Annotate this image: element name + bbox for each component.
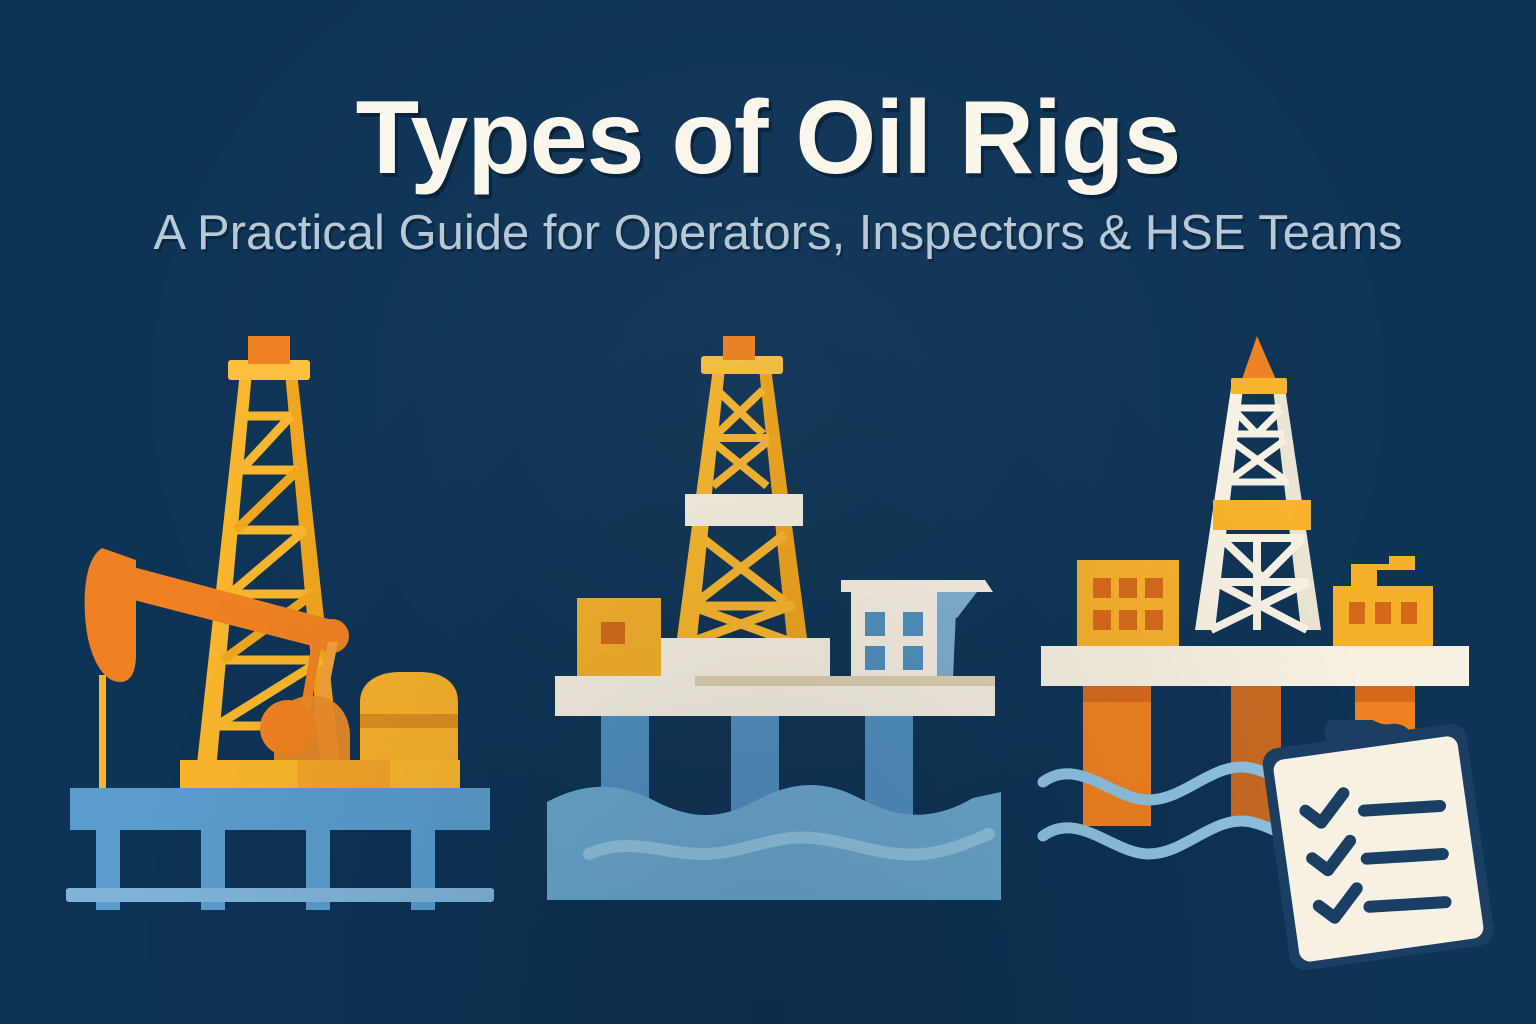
- inspection-clipboard[interactable]: [1255, 720, 1515, 970]
- page-subtitle: A Practical Guide for Operators, Inspect…: [10, 190, 1536, 259]
- poster-header: Types of Oil Rigs A Practical Guide for …: [0, 0, 1536, 259]
- right-module-windows: [1349, 602, 1417, 624]
- derrick-mid-band: [685, 494, 803, 526]
- main-deck: [1041, 646, 1469, 686]
- crown-block-cap: [248, 336, 290, 364]
- derrick-tower: [677, 356, 807, 642]
- right-module-crane: [1351, 556, 1415, 586]
- helideck: [841, 580, 993, 592]
- derrick-tower: [1195, 388, 1321, 630]
- platform-deck: [70, 788, 490, 830]
- polished-rod: [99, 675, 106, 793]
- derrick-cone-cap: [1241, 336, 1277, 382]
- right-module: [1333, 556, 1433, 646]
- left-module: [1077, 560, 1179, 646]
- crown-block-cap: [723, 336, 755, 360]
- ground-bar: [66, 888, 494, 902]
- accommodation-block: [851, 588, 977, 678]
- derrick-pedestal: [660, 638, 830, 678]
- illustration-land-rig: [60, 330, 500, 910]
- page-title: Types of Oil Rigs: [0, 0, 1536, 190]
- derrick-mid-band: [1213, 500, 1311, 530]
- cargo-module: [577, 598, 661, 676]
- illustration-fixed-platform: [545, 330, 1005, 910]
- poster-canvas: Types of Oil Rigs A Practical Guide for …: [0, 0, 1536, 1024]
- clipboard-sheet: [1272, 735, 1485, 963]
